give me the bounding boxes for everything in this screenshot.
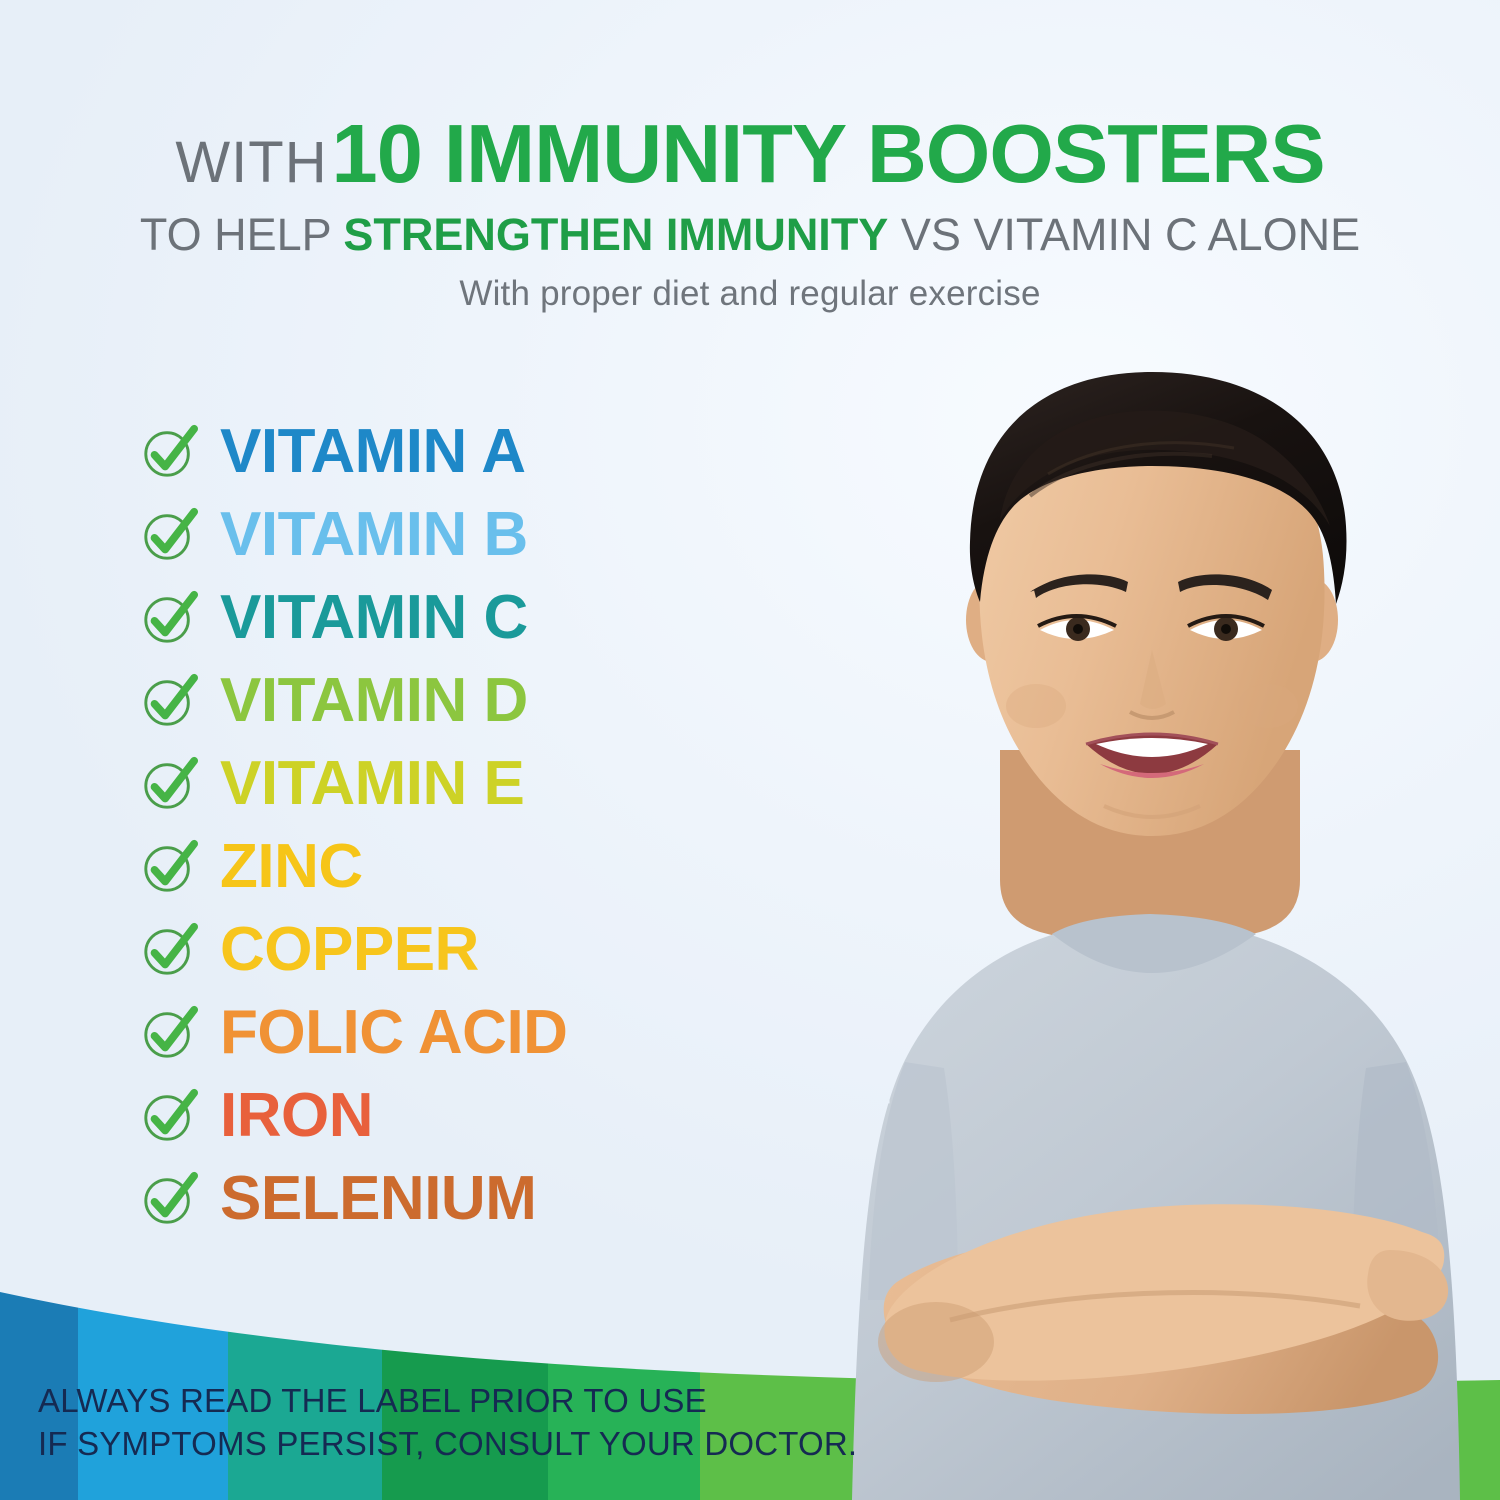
list-item: COPPER (140, 908, 840, 991)
advertisement-poster: WITH 10 IMMUNITY BOOSTERS TO HELP STRENG… (0, 0, 1500, 1500)
check-circle-icon (140, 1170, 198, 1228)
disclaimer-line-1: ALWAYS READ THE LABEL PRIOR TO USE (38, 1380, 857, 1423)
check-circle-glyph (140, 838, 198, 896)
ingredient-label-iron: IRON (220, 1085, 373, 1147)
check-circle-glyph (140, 755, 198, 813)
ingredient-label-vitamin-a: VITAMIN A (220, 421, 525, 483)
list-item: VITAMIN A (140, 410, 840, 493)
check-circle-glyph (140, 1004, 198, 1062)
ingredient-checklist: VITAMIN A VITAMIN B VITAMIN C (140, 410, 840, 1240)
page-title: WITH 10 IMMUNITY BOOSTERS (0, 112, 1500, 195)
check-circle-icon (140, 672, 198, 730)
list-item: ZINC (140, 825, 840, 908)
ingredient-label-vitamin-c: VITAMIN C (220, 587, 528, 649)
headline-note: With proper diet and regular exercise (0, 274, 1500, 314)
ingredient-label-copper: COPPER (220, 919, 479, 981)
list-item: VITAMIN B (140, 493, 840, 576)
subtitle-suffix: VS VITAMIN C ALONE (888, 209, 1360, 260)
check-circle-glyph (140, 1170, 198, 1228)
ingredient-label-vitamin-d: VITAMIN D (220, 670, 528, 732)
check-circle-icon (140, 506, 198, 564)
headline-emphasis: 10 IMMUNITY BOOSTERS (332, 107, 1325, 200)
subtitle-emphasis: STRENGTHEN IMMUNITY (343, 209, 888, 260)
check-circle-glyph (140, 589, 198, 647)
check-circle-glyph (140, 1087, 198, 1145)
list-item: IRON (140, 1074, 840, 1157)
check-circle-icon (140, 838, 198, 896)
check-circle-icon (140, 921, 198, 979)
list-item: VITAMIN C (140, 576, 840, 659)
check-circle-glyph (140, 506, 198, 564)
check-circle-glyph (140, 423, 198, 481)
disclaimer-line-2: IF SYMPTOMS PERSIST, CONSULT YOUR DOCTOR… (38, 1423, 857, 1466)
list-item: VITAMIN D (140, 659, 840, 742)
check-circle-icon (140, 1004, 198, 1062)
subtitle-prefix: TO HELP (140, 209, 343, 260)
check-circle-icon (140, 423, 198, 481)
list-item: VITAMIN E (140, 742, 840, 825)
list-item: SELENIUM (140, 1157, 840, 1240)
check-circle-glyph (140, 921, 198, 979)
list-item: FOLIC ACID (140, 991, 840, 1074)
check-circle-icon (140, 1087, 198, 1145)
ingredient-label-vitamin-e: VITAMIN E (220, 753, 524, 815)
headline-subtitle: TO HELP STRENGTHEN IMMUNITY VS VITAMIN C… (0, 211, 1500, 258)
ingredient-label-zinc: ZINC (220, 836, 363, 898)
headline-block: WITH 10 IMMUNITY BOOSTERS TO HELP STRENG… (0, 112, 1500, 314)
headline-with-word: WITH (175, 130, 327, 195)
check-circle-icon (140, 755, 198, 813)
ingredient-label-folic-acid: FOLIC ACID (220, 1002, 567, 1064)
disclaimer-text: ALWAYS READ THE LABEL PRIOR TO USE IF SY… (38, 1380, 857, 1466)
check-circle-icon (140, 589, 198, 647)
check-circle-glyph (140, 672, 198, 730)
ingredient-label-vitamin-b: VITAMIN B (220, 504, 528, 566)
ingredient-label-selenium: SELENIUM (220, 1168, 536, 1230)
